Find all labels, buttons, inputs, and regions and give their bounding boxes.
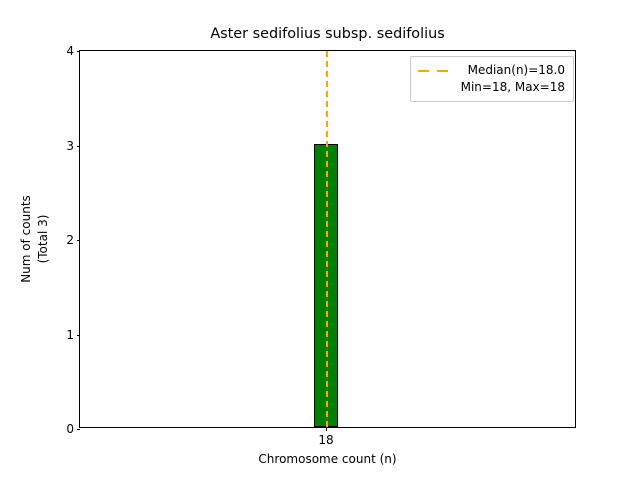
median-line (326, 51, 328, 427)
y-tick-label-3: 3 (66, 139, 74, 153)
y-tick-label-4: 4 (66, 44, 74, 58)
legend-label-median: Median(n)=18.0 (461, 62, 565, 79)
y-axis-label-line1: Num of counts (19, 195, 33, 283)
legend[interactable]: Median(n)=18.0 Min=18, Max=18 (410, 56, 574, 102)
y-axis-label-line2: (Total 3) (36, 215, 50, 264)
chart-title: Aster sedifolius subsp. sedifolius (79, 26, 576, 43)
x-axis-label: Chromosome count (n) (79, 452, 576, 467)
legend-text: Median(n)=18.0 Min=18, Max=18 (461, 62, 565, 96)
y-tick-label-1: 1 (66, 328, 74, 342)
plot-area: 0 1 2 3 4 18 Median (79, 50, 576, 428)
legend-dashed-line-icon (417, 63, 453, 79)
y-tick-label-0: 0 (66, 422, 74, 436)
legend-label-minmax: Min=18, Max=18 (461, 79, 565, 96)
y-tick-label-2: 2 (66, 233, 74, 247)
chart-figure: Aster sedifolius subsp. sedifolius Num o… (0, 0, 640, 480)
x-tick-label-18: 18 (318, 433, 333, 447)
